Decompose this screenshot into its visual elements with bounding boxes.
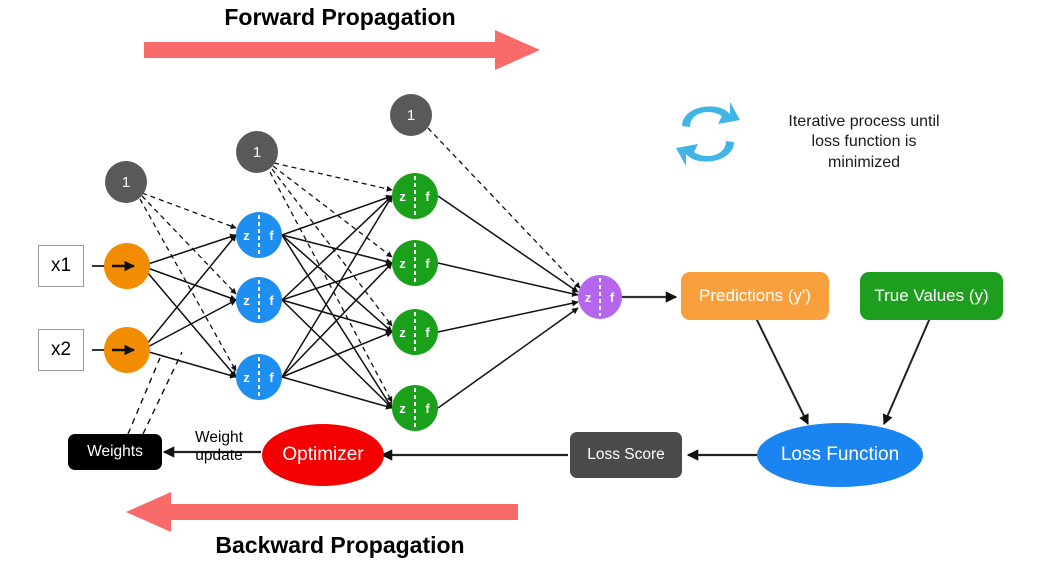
hidden1-neuron-2[interactable]: z f — [236, 277, 282, 323]
hidden2-neuron-3[interactable]: z f — [392, 309, 438, 355]
neuron-f-label: f — [415, 190, 438, 203]
iterative-process-note: Iterative process until loss function is… — [730, 112, 998, 173]
neuron-f-label: f — [259, 294, 282, 307]
edges-hidden1-to-hidden2 — [282, 196, 392, 408]
neuron-f-label: f — [415, 402, 438, 415]
loss-function-ellipse[interactable]: Loss Function — [757, 423, 923, 487]
neuron-z-label: z — [236, 371, 259, 384]
input-neuron-2[interactable] — [104, 327, 150, 373]
neuron-z-label: z — [392, 402, 415, 415]
input-label-x1: x1 — [51, 255, 71, 277]
loss-score-label: Loss Score — [587, 446, 665, 464]
optimizer-label: Optimizer — [282, 444, 363, 466]
bias-node-label: 1 — [407, 107, 415, 124]
loss-function-label: Loss Function — [781, 444, 899, 466]
input-box-x1[interactable]: x1 — [38, 245, 84, 287]
predictions-label: Predictions (y') — [699, 286, 811, 306]
neuron-z-label: z — [236, 229, 259, 242]
predictions-box[interactable]: Predictions (y') — [681, 272, 829, 320]
edges-input-to-hidden1 — [142, 235, 236, 377]
true-values-label: True Values (y) — [874, 286, 988, 306]
neuron-z-label: z — [392, 326, 415, 339]
diagram-canvas: Forward Propagation Backward Propagation… — [0, 0, 1037, 577]
hidden2-neuron-2[interactable]: z f — [392, 240, 438, 286]
weight-update-label: Weight update — [173, 429, 265, 465]
bias-node-layer2[interactable]: 1 — [236, 131, 278, 173]
neuron-f-label: f — [259, 229, 282, 242]
bias-node-label: 1 — [253, 144, 261, 161]
weights-box[interactable]: Weights — [68, 434, 162, 470]
bias-node-label: 1 — [122, 174, 130, 191]
neuron-f-label: f — [415, 326, 438, 339]
edges-hidden2-to-output — [438, 196, 578, 408]
hidden1-neuron-3[interactable]: z f — [236, 354, 282, 400]
backward-propagation-arrow — [126, 492, 518, 532]
neuron-f-label: f — [259, 371, 282, 384]
edges-bias3-to-output — [428, 128, 580, 288]
true-values-box[interactable]: True Values (y) — [860, 272, 1003, 320]
optimizer-ellipse[interactable]: Optimizer — [262, 424, 384, 486]
backward-propagation-label: Backward Propagation — [0, 532, 680, 559]
loss-score-box[interactable]: Loss Score — [570, 432, 682, 478]
neuron-z-label: z — [392, 257, 415, 270]
hidden2-neuron-4[interactable]: z f — [392, 385, 438, 431]
neuron-z-label: z — [392, 190, 415, 203]
neuron-z-label: z — [236, 294, 259, 307]
input-neuron-1[interactable] — [104, 243, 150, 289]
edges-to-loss-function — [756, 318, 930, 424]
weights-label: Weights — [87, 443, 143, 461]
bias-node-layer3[interactable]: 1 — [390, 94, 432, 136]
neuron-f-label: f — [600, 291, 622, 304]
hidden1-neuron-1[interactable]: z f — [236, 212, 282, 258]
bias-node-layer1[interactable]: 1 — [105, 161, 147, 203]
hidden2-neuron-1[interactable]: z f — [392, 173, 438, 219]
output-neuron[interactable]: z f — [578, 275, 622, 319]
neuron-f-label: f — [415, 257, 438, 270]
neuron-z-label: z — [578, 291, 600, 304]
forward-propagation-label: Forward Propagation — [0, 4, 680, 31]
input-box-x2[interactable]: x2 — [38, 329, 84, 371]
input-label-x2: x2 — [51, 339, 71, 361]
forward-propagation-arrow — [144, 30, 540, 70]
